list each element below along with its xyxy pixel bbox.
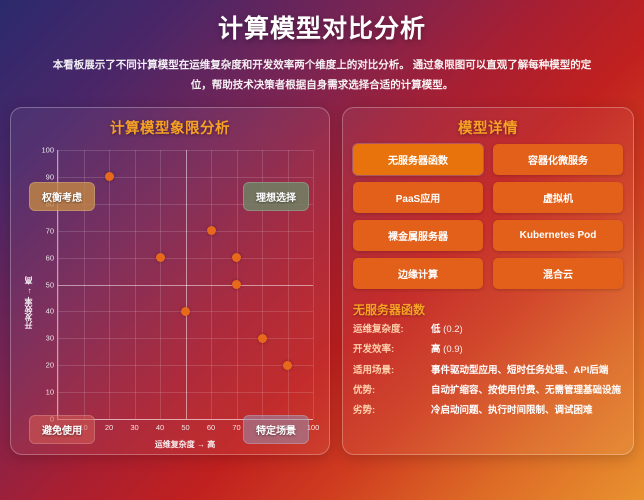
y-axis-tick: 30 <box>46 334 54 343</box>
detail-row-label: 适用场景: <box>353 365 431 377</box>
model-button[interactable]: 混合云 <box>493 258 623 289</box>
quadrant-label-bottom-right: 特定场景 <box>243 415 309 444</box>
quadrant-label-bottom-left: 避免使用 <box>29 415 95 444</box>
selected-model-name: 无服务器函数 <box>353 301 623 318</box>
detail-panel-title: 模型详情 <box>353 117 623 138</box>
quadrant-label-top-left: 权衡考虑 <box>29 182 95 211</box>
model-button-grid: 无服务器函数容器化微服务PaaS应用虚拟机裸金属服务器Kubernetes Po… <box>353 144 623 289</box>
scatter-point[interactable] <box>181 307 190 316</box>
y-axis-tick: 10 <box>46 388 54 397</box>
page-subtitle: 本看板展示了不同计算模型在运维复杂度和开发效率两个维度上的对比分析。 通过象限图… <box>52 56 592 95</box>
detail-row-value: 自动扩缩容、按使用付费、无需管理基础设施 <box>431 385 621 397</box>
y-axis-tick: 40 <box>46 307 54 316</box>
gridline-vertical <box>313 150 314 419</box>
detail-row-label: 劣势: <box>353 405 431 417</box>
detail-row-label: 优势: <box>353 385 431 397</box>
model-button[interactable]: 无服务器函数 <box>353 144 483 175</box>
detail-row-score: (0.2) <box>441 324 463 335</box>
y-axis-tick: 100 <box>41 146 54 155</box>
detail-row-value: 高 (0.9) <box>431 344 463 356</box>
quadrant-label-top-right: 理想选择 <box>243 182 309 211</box>
scatter-point[interactable] <box>156 253 165 262</box>
detail-row: 优势:自动扩缩容、按使用付费、无需管理基础设施 <box>353 385 623 397</box>
main-content: 计算模型象限分析 开发效率 → 高 运维复杂度 → 高 010203040506… <box>0 95 644 465</box>
chart-area: 开发效率 → 高 运维复杂度 → 高 010203040506070809010… <box>21 144 319 462</box>
x-axis-tick: 60 <box>207 423 215 432</box>
detail-row-value: 冷启动问题、执行时间限制、调试困难 <box>431 405 593 417</box>
x-axis-tick: 30 <box>130 423 138 432</box>
detail-row-value: 低 (0.2) <box>431 324 463 336</box>
scatter-point[interactable] <box>232 280 241 289</box>
gridline-horizontal <box>58 365 313 366</box>
chart-panel-title: 计算模型象限分析 <box>21 117 319 138</box>
gridline-horizontal <box>58 231 313 232</box>
quadrant-chart-panel: 计算模型象限分析 开发效率 → 高 运维复杂度 → 高 010203040506… <box>10 107 330 455</box>
x-axis-tick: 50 <box>181 423 189 432</box>
detail-row: 劣势:冷启动问题、执行时间限制、调试困难 <box>353 405 623 417</box>
y-axis-label: 开发效率 → 高 <box>23 277 34 329</box>
scatter-point[interactable] <box>105 172 114 181</box>
gridline-horizontal <box>58 285 313 286</box>
scatter-point[interactable] <box>283 361 292 370</box>
gridline-horizontal <box>58 150 313 151</box>
gridline-horizontal <box>58 392 313 393</box>
y-axis-tick: 50 <box>46 280 54 289</box>
page-header: 计算模型对比分析 本看板展示了不同计算模型在运维复杂度和开发效率两个维度上的对比… <box>0 0 644 95</box>
model-button[interactable]: 裸金属服务器 <box>353 220 483 251</box>
model-button[interactable]: 容器化微服务 <box>493 144 623 175</box>
y-axis-tick: 60 <box>46 253 54 262</box>
scatter-point[interactable] <box>207 226 216 235</box>
gridline-horizontal <box>58 338 313 339</box>
gridline-horizontal <box>58 258 313 259</box>
y-axis-tick: 90 <box>46 172 54 181</box>
detail-row-label: 开发效率: <box>353 344 431 356</box>
model-button[interactable]: PaaS应用 <box>353 182 483 213</box>
y-axis-tick: 20 <box>46 361 54 370</box>
detail-row-value: 事件驱动型应用、短时任务处理、API后端 <box>431 365 608 377</box>
detail-row-score: (0.9) <box>441 344 463 355</box>
model-button[interactable]: 边缘计算 <box>353 258 483 289</box>
model-button[interactable]: Kubernetes Pod <box>493 220 623 251</box>
y-axis-tick: 70 <box>46 226 54 235</box>
scatter-point[interactable] <box>258 334 267 343</box>
detail-row-label: 运维复杂度: <box>353 324 431 336</box>
detail-row: 运维复杂度:低 (0.2) <box>353 324 623 336</box>
x-axis-tick: 20 <box>105 423 113 432</box>
page-title: 计算模型对比分析 <box>52 14 592 45</box>
scatter-point[interactable] <box>232 253 241 262</box>
gridline-horizontal <box>58 177 313 178</box>
model-detail-panel: 模型详情 无服务器函数容器化微服务PaaS应用虚拟机裸金属服务器Kubernet… <box>342 107 634 455</box>
x-axis-tick: 70 <box>232 423 240 432</box>
model-button[interactable]: 虚拟机 <box>493 182 623 213</box>
x-axis-tick: 40 <box>156 423 164 432</box>
detail-row: 开发效率:高 (0.9) <box>353 344 623 356</box>
detail-row: 适用场景:事件驱动型应用、短时任务处理、API后端 <box>353 365 623 377</box>
model-detail-rows: 运维复杂度:低 (0.2)开发效率:高 (0.9)适用场景:事件驱动型应用、短时… <box>353 324 623 426</box>
